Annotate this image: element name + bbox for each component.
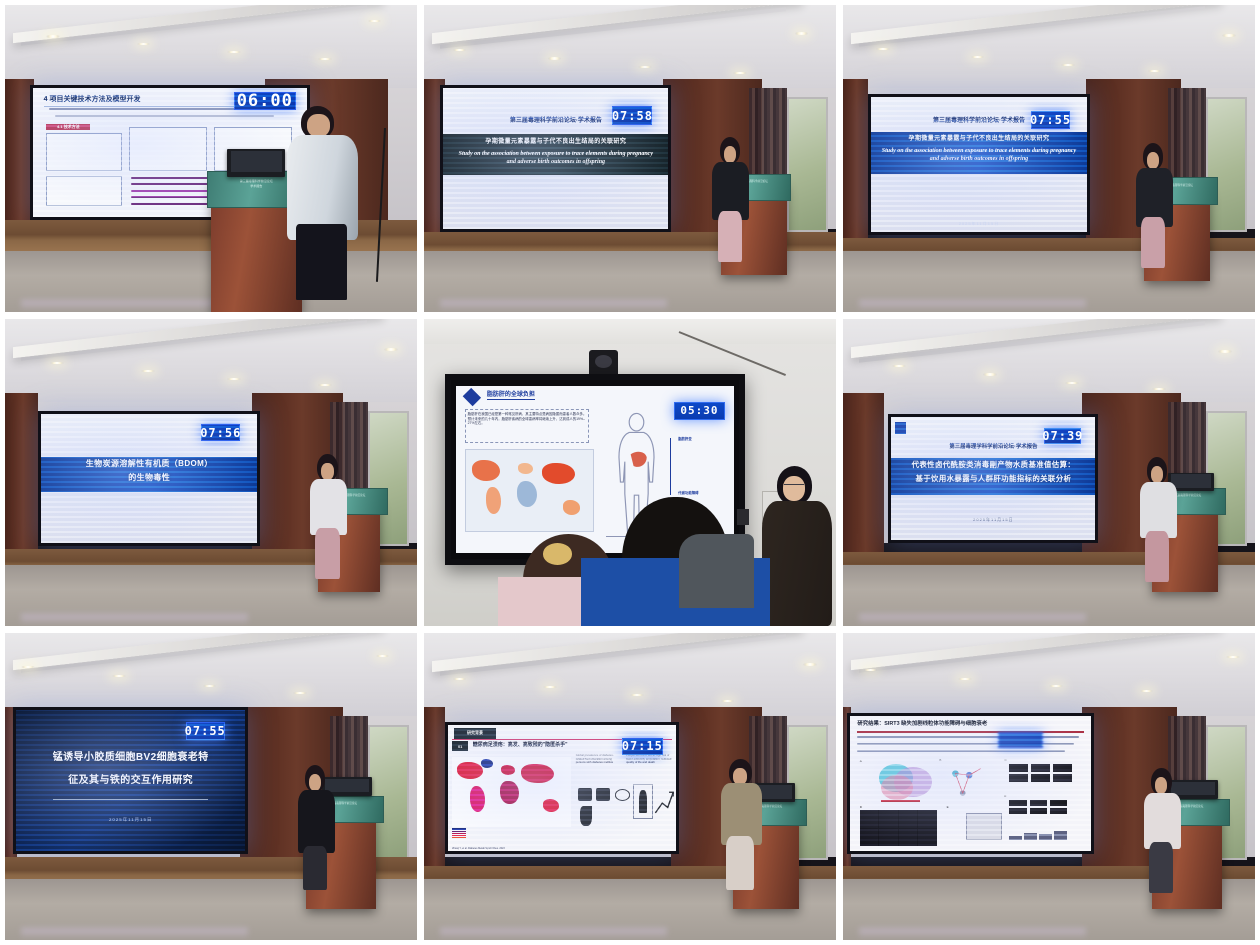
map-region-oceania xyxy=(543,799,560,812)
ceiling xyxy=(843,633,1255,722)
downlight-icon xyxy=(384,348,398,350)
speaker-person xyxy=(298,765,335,888)
wood-panel-left xyxy=(843,79,868,263)
downlight-icon xyxy=(548,57,562,59)
microscopy-cell xyxy=(899,829,918,846)
photo-cell-8[interactable]: 研究背景 01 糖尿病足溃疡：高发、高致残的"隐匿杀手" xyxy=(424,633,836,940)
person-top xyxy=(310,479,347,535)
photo-cell-4[interactable]: 生物炭源溶解性有机质（BDOM） 的生物毒性 07:56 第三届毒理科学前沿论坛 xyxy=(5,319,417,626)
downlight-icon xyxy=(721,700,735,702)
photo-collage-grid: 4 项目关键技术方法及模型开发 4.1 技术方法 xyxy=(0,0,1260,945)
countdown-timer xyxy=(998,732,1043,748)
wood-panel-left xyxy=(424,707,445,891)
speaker-person xyxy=(1136,143,1173,266)
speaker-person xyxy=(310,454,347,577)
map-region-africa xyxy=(517,481,537,507)
speaker-person xyxy=(285,106,359,296)
photo-cell-5[interactable]: 脂肪肝的全球负担 脂肪肝在我国已经是第一种常见肝病，其主要特点是病因隐匿而患者人… xyxy=(424,319,836,626)
floor-reflection xyxy=(21,928,248,938)
microscopy-cell xyxy=(879,810,898,827)
slide-note-left: Global prevalence of diabetes-related fo… xyxy=(576,754,622,765)
microscopy-cell xyxy=(899,810,918,827)
photo-cell-6[interactable]: 第三届毒理学科学前沿论坛·学术报告 代表性卤代酰胺类消毒副产物水质基准值估算： … xyxy=(843,319,1255,626)
panel-rule xyxy=(881,800,920,802)
countdown-timer: 07:58 xyxy=(612,106,652,125)
floor-reflection xyxy=(440,300,667,310)
slide-date: 2025年11月15日 xyxy=(16,817,245,823)
western-blot-panel-c xyxy=(1009,764,1072,780)
downlight-icon xyxy=(293,692,307,694)
downlight-icon xyxy=(1140,690,1154,692)
person-face xyxy=(724,146,737,163)
panel-label-c: C xyxy=(1004,758,1006,762)
downlight-icon xyxy=(1218,350,1232,352)
laptop xyxy=(227,149,285,177)
person-skirt xyxy=(296,224,348,300)
led-screen: 研究结果：SIRT3 缺失加剧线粒体功能障碍与细胞衰老 A B xyxy=(847,713,1094,854)
downlight-icon xyxy=(46,35,60,37)
person-face xyxy=(321,463,334,480)
slide-title-cn: 孕期微量元素暴露与子代不良出生结局的关联研究 xyxy=(452,139,659,147)
downlight-icon xyxy=(803,663,817,665)
map-region-southamerica xyxy=(486,487,501,514)
downlight-icon xyxy=(141,370,155,372)
panel-label-d: D xyxy=(860,805,862,809)
person-lower xyxy=(726,836,753,890)
world-map-chart xyxy=(465,449,595,531)
panel-label-e: E xyxy=(947,805,949,809)
person-face xyxy=(307,114,329,137)
slide-title-en: Study on the association between exposur… xyxy=(882,148,1077,164)
floor-reflection xyxy=(21,614,248,624)
slide-table-mid xyxy=(129,127,208,172)
photo-cell-7[interactable]: 锰诱导小胶质细胞BV2细胞衰老特 征及其与铁的交互作用研究 2025年11月15… xyxy=(5,633,417,940)
downlight-icon xyxy=(318,58,332,60)
slide-corner-mark xyxy=(895,422,905,434)
downlight-icon xyxy=(983,373,997,375)
downlight-icon xyxy=(318,384,332,386)
downlight-icon xyxy=(630,694,644,696)
map-region-northamerica xyxy=(457,762,483,779)
hair-tie-icon xyxy=(543,543,572,564)
downlight-icon xyxy=(876,48,890,50)
panel-label-a: A xyxy=(860,759,862,763)
organ-icon-2 xyxy=(596,788,610,801)
slide-title-cn-2: 的生物毒性 xyxy=(50,473,249,483)
map-region-oceania xyxy=(563,500,581,514)
microscopy-cell xyxy=(860,810,879,827)
person-face xyxy=(1155,777,1168,794)
downlight-icon xyxy=(227,378,241,380)
annotation-bottom: 代谢功能障碍 xyxy=(678,490,698,495)
western-blot-panel-f xyxy=(1009,800,1067,814)
slide-content-figures: 研究结果：SIRT3 缺失加剧线粒体功能障碍与细胞衰老 A B xyxy=(850,716,1091,851)
bracket-line xyxy=(670,438,671,495)
microscopy-cell xyxy=(879,829,898,846)
slide-citation: Zhang Y, et al. Diabetes Metab Syndr Obe… xyxy=(452,847,672,850)
slide-note-right: People with DFU are at high risk of lowe… xyxy=(626,754,672,765)
foot-icon xyxy=(580,806,591,826)
downlight-icon xyxy=(453,678,467,680)
slide-text-line xyxy=(857,750,1064,752)
downlight-icon xyxy=(203,685,217,687)
person-lower xyxy=(1145,531,1169,583)
organ-icon xyxy=(578,788,592,801)
downlight-icon xyxy=(971,56,985,58)
downlight-icon xyxy=(543,686,557,688)
blot-panel-e xyxy=(966,813,1002,839)
annotation-top: 脂肪肝变 xyxy=(678,436,692,441)
floor-reflection xyxy=(859,614,1086,624)
downlight-icon xyxy=(112,675,126,677)
map-region-europe xyxy=(518,463,533,474)
map-region-europe xyxy=(501,765,515,775)
photo-cell-1[interactable]: 4 项目关键技术方法及模型开发 4.1 技术方法 xyxy=(5,5,417,312)
slide-step-tag: 01 xyxy=(452,741,468,751)
person-lower xyxy=(315,528,339,580)
map-region-greenland xyxy=(481,759,493,767)
audience-arm xyxy=(679,534,753,608)
person-top xyxy=(298,790,335,854)
photo-cell-2[interactable]: 第三届毒理科学前沿论坛·学术报告 孕期微量元素暴露与子代不良出生结局的关联研究 … xyxy=(424,5,836,312)
wall-socket xyxy=(737,509,749,524)
eye-icon xyxy=(615,789,631,801)
downlight-icon xyxy=(892,365,906,367)
pathway-diagram xyxy=(937,763,995,804)
diamond-bullet-icon xyxy=(463,387,481,405)
person-face xyxy=(733,768,747,785)
person-coat xyxy=(762,501,832,626)
auditorium-scene: 第三届毒理科学前沿论坛·学术报告 孕期微量元素暴露与子代不良出生结局的关联研究 … xyxy=(843,5,1255,312)
downlight-icon xyxy=(376,655,390,657)
world-map-chart xyxy=(452,757,571,828)
camera-icon xyxy=(589,350,618,378)
auditorium-scene: 4 项目关键技术方法及模型开发 4.1 技术方法 xyxy=(5,5,417,312)
ceiling xyxy=(424,319,836,344)
speaker-person xyxy=(712,137,749,260)
led-screen: 锰诱导小胶质细胞BV2细胞衰老特 征及其与铁的交互作用研究 2025年11月15… xyxy=(13,707,248,854)
downlight-icon xyxy=(795,32,809,34)
slide-date: 2025年11月15日 xyxy=(891,517,1095,523)
slide-title-cn: 生物炭源溶解性有机质（BDOM） xyxy=(50,459,249,469)
led-screen: 第三届毒理科学前沿论坛·学术报告 孕期微量元素暴露与子代不良出生结局的关联研究 … xyxy=(440,85,671,232)
person-lower xyxy=(303,846,327,890)
slide-section-label: 4.1 技术方法 xyxy=(46,124,90,130)
map-region-asia xyxy=(542,463,575,484)
slide-title-cn: 孕期微量元素暴露与子代不良出生结局的关联研究 xyxy=(879,136,1078,144)
auditorium-scene: 研究背景 01 糖尿病足溃疡：高发、高致残的"隐匿杀手" xyxy=(424,633,836,940)
map-region-africa xyxy=(500,781,519,805)
trend-arrow-icon xyxy=(654,788,675,816)
laptop-screen xyxy=(231,151,282,171)
downlight-icon xyxy=(1148,70,1162,72)
microscopy-cell xyxy=(918,829,937,846)
downlight-icon xyxy=(733,72,747,74)
slide-title-cn: 代表性卤代酰胺类消毒副产物水质基准值估算： xyxy=(899,460,1087,469)
map-legend xyxy=(452,828,484,843)
glasses-icon xyxy=(784,484,804,490)
floor-reflection xyxy=(859,928,1086,938)
downlight-icon xyxy=(1049,685,1063,687)
downlight-icon xyxy=(137,43,151,45)
slide-table-lower xyxy=(46,176,122,206)
slide-table-left xyxy=(46,133,122,171)
map-region-southamerica xyxy=(470,786,485,811)
laptop-screen xyxy=(1171,474,1211,488)
countdown-timer: 07:55 xyxy=(186,722,225,740)
countdown-timer: 07:15 xyxy=(622,738,663,755)
downlight-icon xyxy=(1061,64,1075,66)
led-screen: 第三届毒理科学前沿论坛·学术报告 孕期微量元素暴露与子代不良出生结局的关联研究 … xyxy=(868,94,1090,235)
led-screen: 生物炭源溶解性有机质（BDOM） 的生物毒性 07:56 xyxy=(38,411,261,546)
floor-reflection xyxy=(440,928,667,938)
slide-title-cn: 锰诱导小胶质细胞BV2细胞衰老特 xyxy=(25,752,236,765)
slide-title: 脂肪肝的全球负担 xyxy=(487,389,535,400)
microscopy-image-grid xyxy=(860,810,937,845)
downlight-icon xyxy=(1222,34,1236,36)
classroom-scene: 脂肪肝的全球负担 脂肪肝在我国已经是第一种常见肝病，其主要特点是病因隐匿而患者人… xyxy=(424,319,836,626)
slide-title-cn-2: 征及其与铁的交互作用研究 xyxy=(25,775,236,788)
downlight-icon xyxy=(638,66,652,68)
map-region-northamerica xyxy=(472,460,500,481)
panel-label-b: B xyxy=(939,758,941,762)
floor-reflection xyxy=(859,300,1086,310)
countdown-timer: 07:56 xyxy=(201,424,240,440)
map-region-asia xyxy=(521,764,554,784)
microscopy-cell xyxy=(860,829,879,846)
auditorium-scene: 第三届毒理科学前沿论坛·学术报告 孕期微量元素暴露与子代不良出生结局的关联研究 … xyxy=(424,5,836,312)
auditorium-scene: 锰诱导小胶质细胞BV2细胞衰老特 征及其与铁的交互作用研究 2025年11月15… xyxy=(5,633,417,940)
divider xyxy=(53,799,209,800)
downlight-icon xyxy=(1152,388,1166,390)
slide-text-line xyxy=(55,115,274,117)
downlight-icon xyxy=(50,362,64,364)
wood-panel-left xyxy=(843,393,884,577)
person-face xyxy=(309,774,322,791)
auditorium-scene: 生物炭源溶解性有机质（BDOM） 的生物毒性 07:56 第三届毒理科学前沿论坛 xyxy=(5,319,417,626)
slide-title-cn-2: 基于饮用水暴露与人群肝功能指标的关联分析 xyxy=(899,474,1087,483)
presenter-person xyxy=(762,466,832,626)
slide-text-line xyxy=(857,736,1079,738)
person-face xyxy=(1151,466,1164,483)
countdown-timer: 05:30 xyxy=(674,402,725,420)
speaker-person xyxy=(721,759,762,888)
auditorium-scene: 第三届毒理学科学前沿论坛·学术报告 代表性卤代酰胺类消毒副产物水质基准值估算： … xyxy=(843,319,1255,626)
slide-subtitle: 糖尿病足溃疡：高发、高致残的"隐匿杀手" xyxy=(473,741,622,748)
downlight-icon xyxy=(958,678,972,680)
downlight-icon xyxy=(453,49,467,51)
person-lower xyxy=(718,211,742,263)
downlight-icon xyxy=(1065,382,1079,384)
bar-chart-mini xyxy=(1009,829,1067,840)
slide-rule xyxy=(857,731,1084,733)
led-screen: 第三届毒理学科学前沿论坛·学术报告 代表性卤代酰胺类消毒副产物水质基准值估算： … xyxy=(888,414,1098,543)
countdown-timer: 07:39 xyxy=(1044,428,1081,444)
slide-body-text: 脂肪肝在我国已经是第一种常见肝病，其主要特点是病因隐匿而患者人数众多。预计未来的… xyxy=(465,409,590,443)
photo-cell-3[interactable]: 第三届毒理科学前沿论坛·学术报告 孕期微量元素暴露与子代不良出生结局的关联研究 … xyxy=(843,5,1255,312)
panel-label-f: F xyxy=(1004,794,1006,798)
window xyxy=(787,97,828,232)
person-lower xyxy=(1149,842,1173,894)
speaker-person xyxy=(1144,768,1181,891)
downlight-icon xyxy=(864,669,878,671)
led-screen: 研究背景 01 糖尿病足溃疡：高发、高致残的"隐匿杀手" xyxy=(445,722,680,854)
speaker-person xyxy=(1140,457,1177,580)
downlight-icon xyxy=(227,51,241,53)
slide-section-tag: 研究背景 xyxy=(454,728,495,739)
slide-title-en: Study on the association between exposur… xyxy=(455,151,657,167)
microscopy-cell xyxy=(918,810,937,827)
countdown-timer: 07:55 xyxy=(1031,111,1070,129)
downlight-icon xyxy=(368,20,382,22)
auditorium-scene: 研究结果：SIRT3 缺失加剧线粒体功能障碍与细胞衰老 A B xyxy=(843,633,1255,940)
person-box xyxy=(633,784,653,819)
slide-title: 研究结果：SIRT3 缺失加剧线粒体功能障碍与细胞衰老 xyxy=(857,719,1019,727)
person-face xyxy=(1147,152,1160,169)
person-top xyxy=(1140,482,1177,538)
photo-cell-9[interactable]: 研究结果：SIRT3 缺失加剧线粒体功能障碍与细胞衰老 A B xyxy=(843,633,1255,940)
window xyxy=(1206,97,1247,232)
person-lower xyxy=(1141,217,1165,269)
downlight-icon xyxy=(1226,656,1240,658)
person-top xyxy=(1144,793,1181,849)
venn-circle-3 xyxy=(881,775,912,799)
slide-date: 2025年11月15日 xyxy=(871,221,1087,227)
